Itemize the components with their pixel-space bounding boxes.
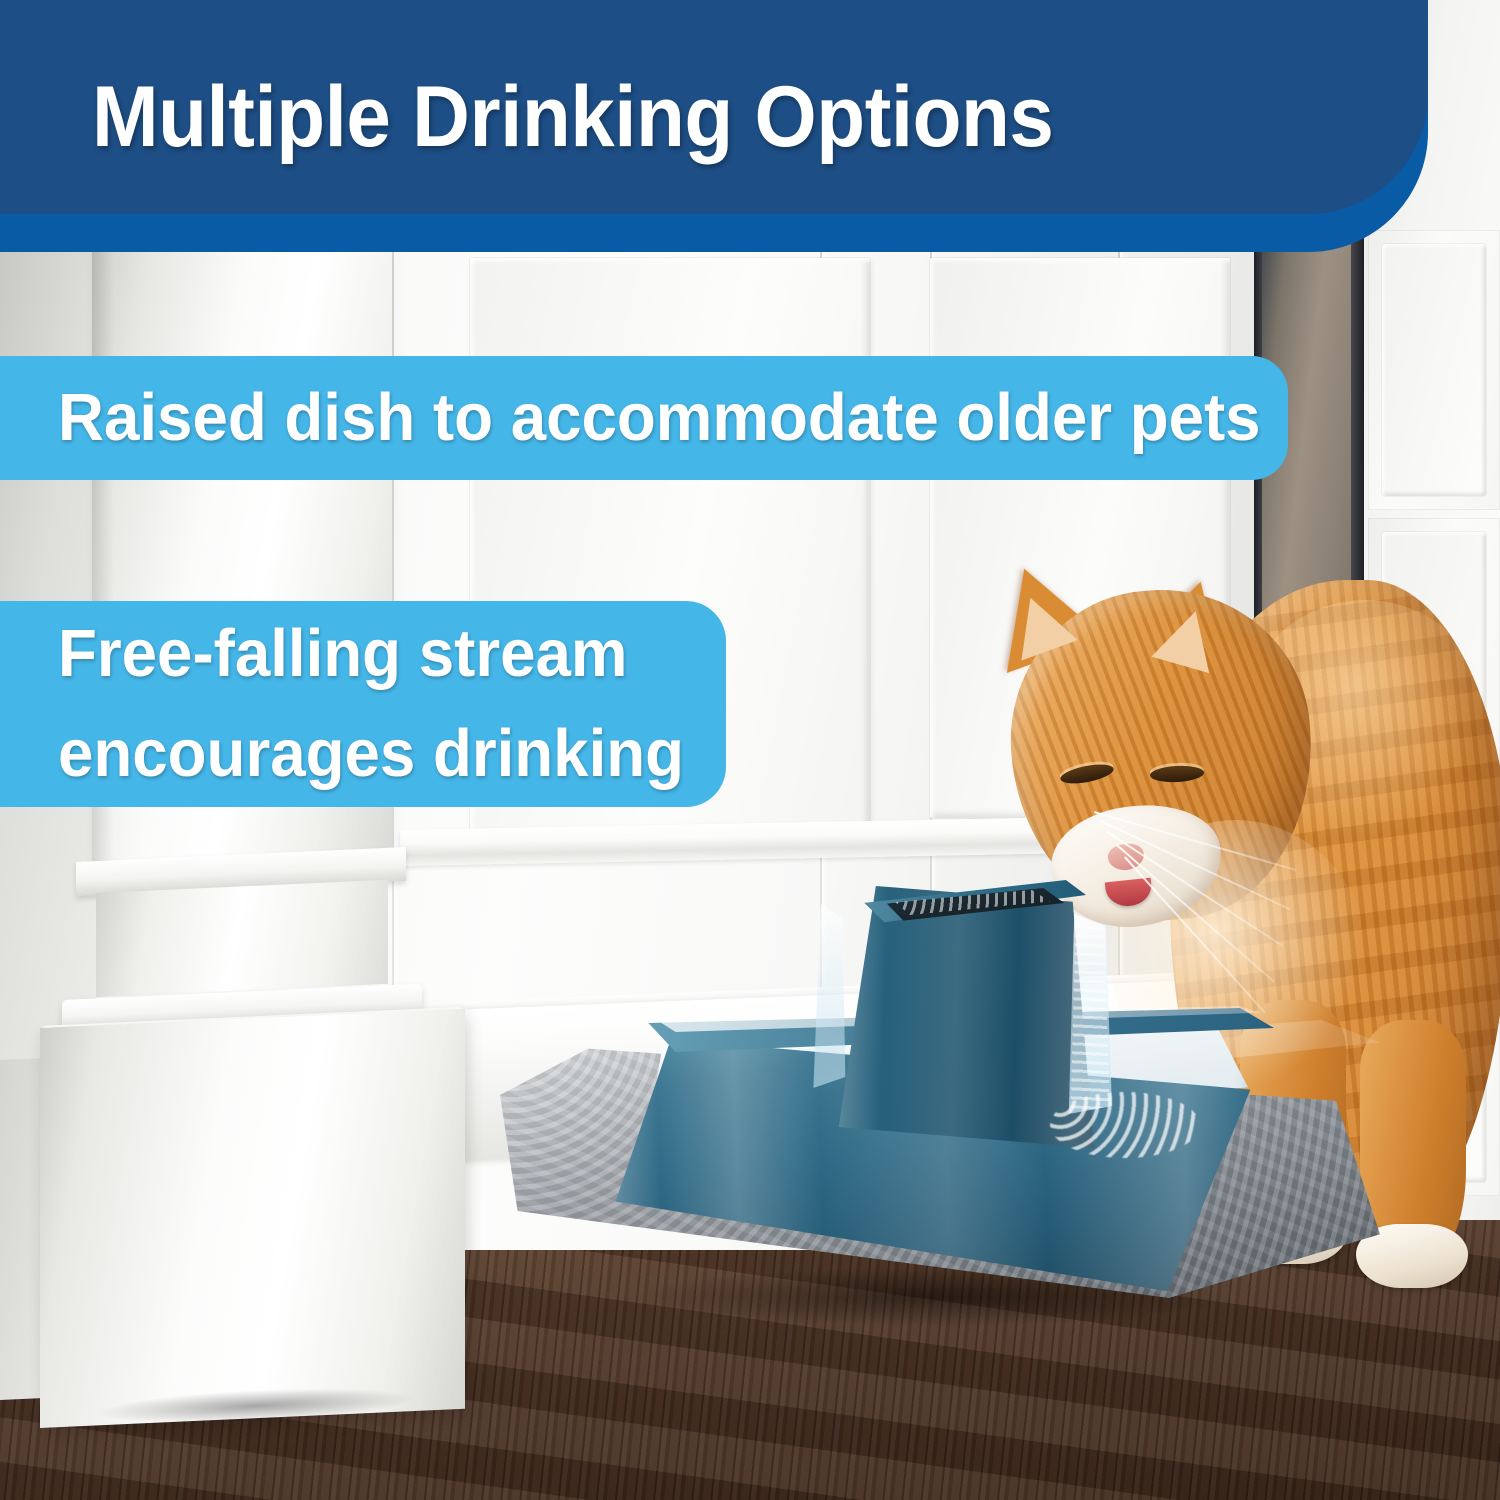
cabinet-door-upper — [1368, 230, 1500, 510]
callout-line: encourages drinking — [58, 704, 693, 804]
water-stream-left — [812, 904, 846, 1088]
page-title: Multiple Drinking Options — [92, 68, 1053, 167]
callout-raised-dish: Raised dish to accommodate older pets — [0, 356, 1288, 480]
ceramic-pet-fountain — [490, 880, 1390, 1360]
newel-post-block — [96, 880, 388, 997]
callout-line: Free-falling stream — [58, 604, 693, 704]
callout-line: Raised dish to accommodate older pets — [58, 356, 1227, 480]
callout-free-falling-stream: Free-falling stream encourages drinking — [0, 601, 726, 807]
newel-post-base — [40, 1009, 465, 1428]
water-splash — [1050, 1092, 1200, 1158]
tower-glaze-sheen — [828, 886, 1094, 1148]
product-feature-image: Multiple Drinking Options Raised dish to… — [0, 0, 1500, 1500]
